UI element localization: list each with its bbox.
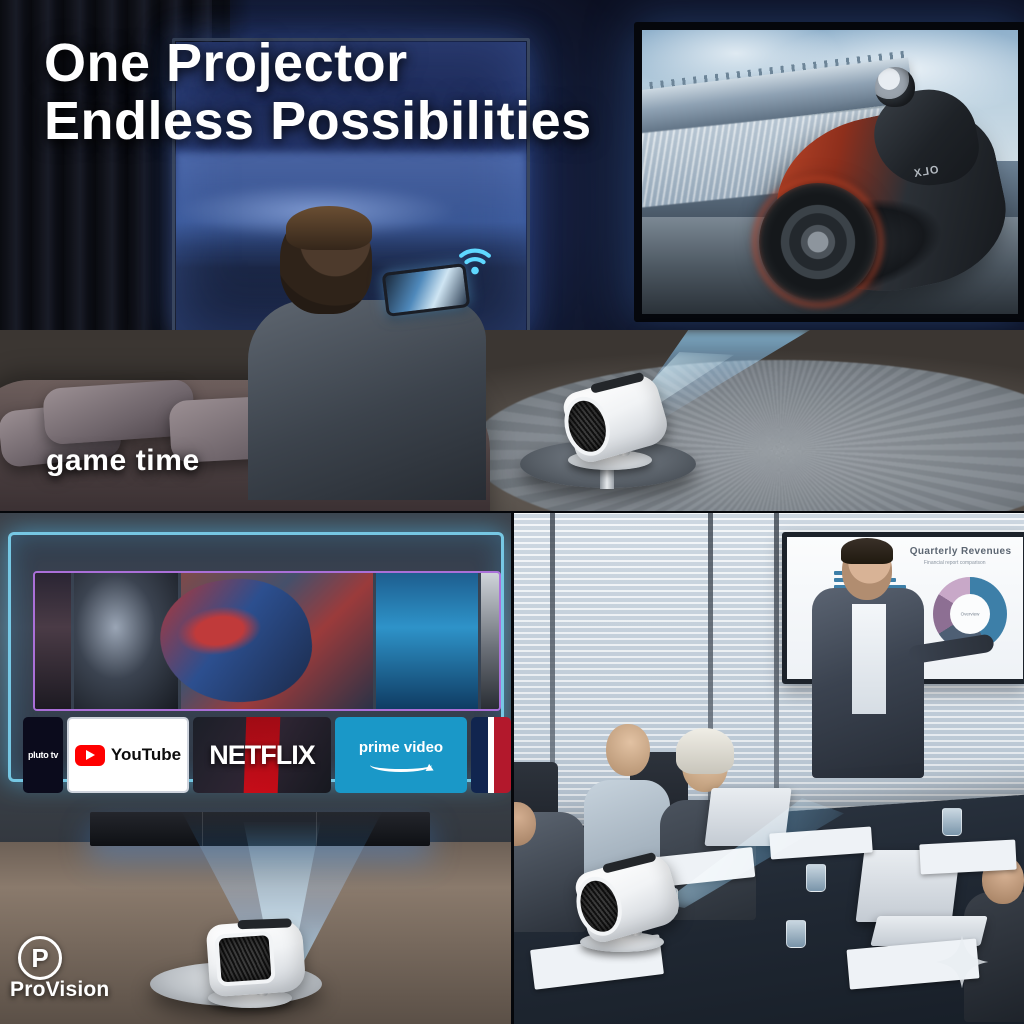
attendee-head <box>606 724 650 776</box>
media-console <box>90 812 430 846</box>
poster-item[interactable] <box>481 573 501 709</box>
gamer-hair <box>286 206 372 250</box>
wifi-cast-icon <box>458 246 492 276</box>
headline-line-1: One Projector <box>44 33 408 93</box>
rider-helmet <box>875 67 915 107</box>
sparkle-star-icon <box>934 934 990 990</box>
caption-game-time: game time <box>46 444 200 478</box>
projected-streaming-ui: pluto tv YouTube NETFLIX prime video <box>8 532 504 782</box>
headline-line-2: Endless Possibilities <box>44 92 592 150</box>
water-glass <box>786 920 806 948</box>
water-glass <box>806 864 826 892</box>
water-glass <box>942 808 962 836</box>
service-label-pluto: pluto tv <box>28 750 58 760</box>
presenter-hair <box>841 538 893 564</box>
page-title: One Projector Endless Possibilities <box>44 34 592 151</box>
streaming-services-row: pluto tv YouTube NETFLIX prime video <box>23 717 511 793</box>
brand-name: ProVision <box>10 978 109 1002</box>
poster-aquaman[interactable] <box>376 573 478 709</box>
service-tile-netflix[interactable]: NETFLIX <box>193 717 331 793</box>
service-label-prime-video: prime video <box>359 739 443 756</box>
document-paper <box>919 840 1016 875</box>
amazon-smile-icon <box>370 758 432 772</box>
projector-barrel <box>206 919 307 998</box>
service-tile-prime-video[interactable]: prime video <box>335 717 467 793</box>
attendee-hair <box>676 728 734 774</box>
donut-center-label: Overview <box>961 612 980 617</box>
poster-item[interactable] <box>35 573 71 709</box>
panel-game-time: OLX One Proj <box>0 0 1024 512</box>
brand-mark-letter: P <box>31 945 48 971</box>
youtube-play-icon <box>75 745 105 766</box>
gamer-torso <box>248 300 486 500</box>
presenter-shirt <box>852 604 886 714</box>
circle-p-logo-icon: P <box>18 936 62 980</box>
service-tile-youtube[interactable]: YouTube <box>67 717 189 793</box>
panel-divider-vertical <box>511 512 514 1024</box>
slide-title: Quarterly Revenues <box>910 546 1012 557</box>
tv-screen-racing-game: OLX <box>642 30 1018 314</box>
service-label-netflix: NETFLIX <box>209 740 315 771</box>
service-tile-pluto-tv[interactable]: pluto tv <box>23 717 63 793</box>
projector-lens-icon <box>214 931 275 987</box>
service-tile-mlb[interactable] <box>471 717 511 793</box>
hbar-label <box>809 578 831 582</box>
promo-collage: OLX One Proj <box>0 0 1024 1024</box>
projector-top-strip <box>237 918 291 929</box>
service-label-youtube: YouTube <box>111 745 181 765</box>
slide-subtitle: Financial report comparison <box>924 560 986 566</box>
hbar-label <box>809 571 831 575</box>
brand-logo[interactable]: P ProVision <box>10 936 109 1002</box>
motorcycle-wheel <box>759 183 877 301</box>
